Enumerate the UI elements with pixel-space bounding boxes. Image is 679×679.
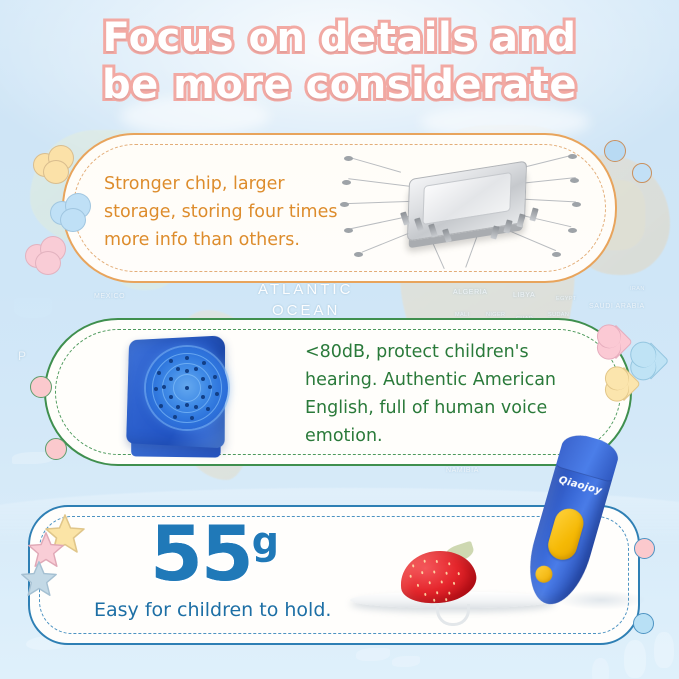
blue-speaker-image: [118, 333, 234, 455]
penguin-icon-3: [592, 658, 609, 679]
circle-pink-right-icon: [634, 538, 655, 559]
boat-icon: [14, 298, 52, 318]
dolphin-icon-2: [392, 656, 420, 667]
star-blue-icon: [20, 560, 58, 598]
penguin-icon: [624, 640, 646, 678]
chip-feature-text: Stronger chip, larger storage, storing f…: [104, 170, 354, 254]
page-title: Focus on details and be more considerate: [0, 16, 679, 107]
strawberry-image: [400, 545, 476, 603]
title-line-2: be more considerate: [0, 63, 679, 107]
map-label-atlantic: ATLANTIC: [258, 281, 353, 298]
blob-blue-icon: [50, 193, 96, 233]
dolphin-icon: [356, 648, 390, 661]
circle-pink-upper-icon: [30, 376, 52, 398]
circle-blue-top-icon: [604, 140, 626, 162]
title-line-1: Focus on details and: [0, 16, 679, 60]
map-label-egypt: EGYPT: [556, 296, 577, 302]
weight-unit: g: [252, 522, 279, 560]
chip-top-surface: [422, 172, 511, 225]
map-label-algeria: ALGERIA: [453, 289, 488, 296]
map-label-iran: IRAN: [630, 286, 645, 292]
map-label-mexico: MEXICO: [94, 293, 125, 300]
weight-caption: Easy for children to hold.: [94, 598, 384, 622]
circle-pink-lower-icon: [45, 438, 67, 460]
speaker-grille: [146, 347, 228, 429]
map-label-libya: LIBYA: [513, 292, 535, 299]
blob-pink-icon: [25, 236, 71, 276]
microchip-image: [346, 150, 576, 270]
map-label-saudi-arabia: SAUDI ARABIA: [589, 303, 645, 310]
map-label-ocean: OCEAN: [272, 302, 340, 319]
weight-number: 55: [150, 516, 252, 592]
circle-blue-right-icon: [633, 613, 654, 634]
scale-stem: [436, 604, 470, 626]
map-label-p: P: [18, 349, 27, 363]
penguin-icon-2: [654, 632, 674, 668]
weight-value: 55g: [150, 516, 279, 592]
map-label-namibia: NAMIBIA: [446, 467, 479, 474]
circle-blue-bottom-icon: [632, 163, 652, 183]
blob-yellow-icon: [33, 145, 79, 185]
